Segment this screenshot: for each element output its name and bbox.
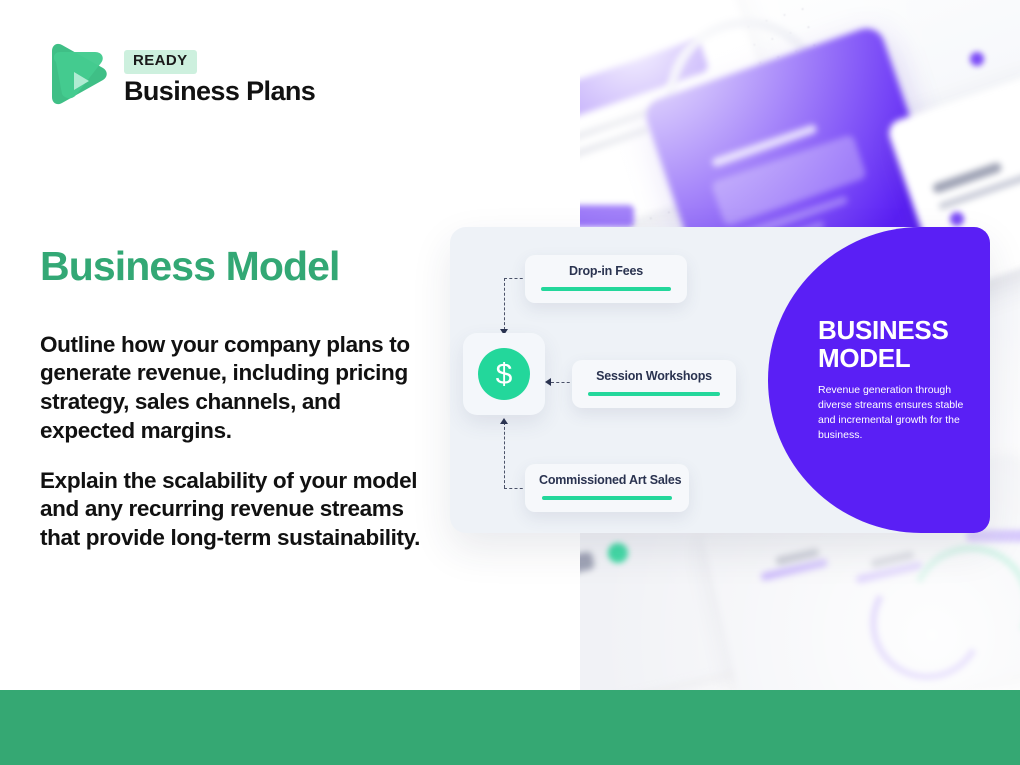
purple-panel-content: BUSINESS MODEL Revenue generation throug… (768, 227, 990, 533)
mock-chip-purple (580, 205, 634, 227)
flow-node-label: Commissioned Art Sales (539, 473, 675, 488)
slide-root: READY Business Plans Business Model Outl… (0, 0, 1020, 765)
mock-dot-purple-1 (970, 52, 984, 66)
flow-node-underline (588, 392, 720, 396)
purple-panel-title-line1: BUSINESS (818, 315, 949, 345)
purple-panel-description: Revenue generation through diverse strea… (818, 383, 968, 443)
dollar-sign-icon: $ (489, 357, 519, 391)
revenue-hub-node: $ (463, 333, 545, 415)
connector-arrow-bottom (500, 418, 508, 424)
purple-panel-title: BUSINESS MODEL (818, 317, 968, 373)
mock-dot-purple-2 (950, 212, 964, 226)
footer-band (0, 690, 1020, 765)
hub-circle: $ (478, 348, 530, 400)
mock-dot-green (608, 543, 628, 563)
svg-text:$: $ (496, 358, 513, 391)
connector-hub-to-bottom-vertical (504, 422, 505, 488)
connector-arrow-middle (545, 378, 551, 386)
flow-node-label: Session Workshops (586, 369, 722, 384)
body-paragraph-2: Explain the scalability of your model an… (40, 467, 440, 553)
flow-node-session-workshops[interactable]: Session Workshops (572, 360, 736, 408)
play-logo-icon (40, 40, 110, 116)
page-title: Business Model (40, 244, 340, 289)
flow-node-underline (542, 496, 672, 500)
brand-text-block: READY Business Plans (124, 50, 315, 106)
flow-node-commissioned-art-sales[interactable]: Commissioned Art Sales (525, 464, 689, 512)
flow-node-label: Drop-in Fees (539, 264, 673, 279)
purple-panel-title-line2: MODEL (818, 343, 910, 373)
brand-logo: READY Business Plans (40, 40, 315, 116)
brand-name: Business Plans (124, 77, 315, 107)
ready-badge: READY (124, 50, 197, 74)
connector-hub-to-top-vertical (504, 278, 505, 330)
flow-node-drop-in-fees[interactable]: Drop-in Fees (525, 255, 687, 303)
body-paragraph-1: Outline how your company plans to genera… (40, 331, 440, 446)
flow-node-underline (541, 287, 671, 291)
